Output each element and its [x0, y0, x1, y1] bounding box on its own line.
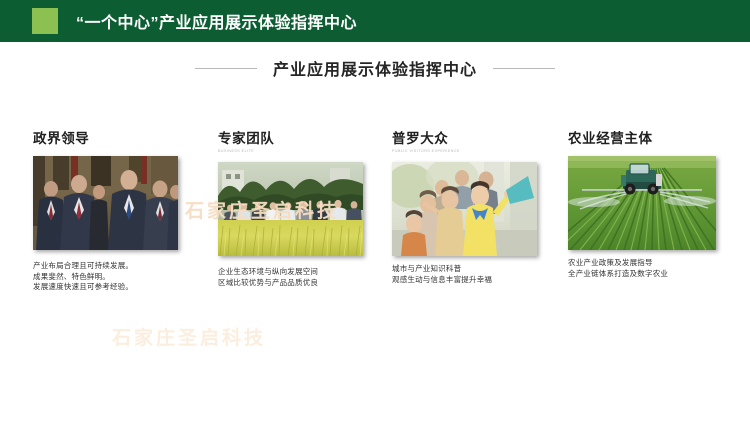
column-heading: 普罗大众 — [392, 130, 567, 148]
caption-line: 农业产业政策及发展指导 — [568, 258, 743, 269]
caption-line: 城市与产业知识科普 — [392, 264, 567, 275]
header-title: “一个中心”产业应用展示体验指挥中心 — [76, 9, 357, 33]
column-caption: 产业布局合理且可持续发展。 成果斐然、特色鲜明。 发展速度快速且可参考经验。 — [33, 261, 208, 293]
public-visitors-photo — [392, 162, 537, 256]
column-caption: 企业生态环境与纵向发展空间 区域比较优势与产品品质优良 — [218, 267, 393, 288]
page-title-row: 产业应用展示体验指挥中心 — [0, 55, 750, 81]
column-subheading: BUSINESS ELITE — [218, 148, 393, 154]
public-visitors-illustration — [392, 162, 537, 256]
rice-field-inspection-photo — [218, 162, 363, 256]
column-heading: 农业经营主体 — [568, 130, 743, 148]
column-expert-team: 专家团队 BUSINESS ELITE — [218, 130, 393, 288]
farm-spraying-illustration — [568, 156, 716, 250]
caption-line: 全产业链体系打造及数字农业 — [568, 269, 743, 280]
column-public-visitors: 普罗大众 PUBLIC VISITORS EXPERIENCE — [392, 130, 567, 285]
column-caption: 城市与产业知识科普 观感生动与信息丰富提升幸福 — [392, 264, 567, 285]
column-caption: 农业产业政策及发展指导 全产业链体系打造及数字农业 — [568, 258, 743, 279]
caption-line: 成果斐然、特色鲜明。 — [33, 272, 208, 283]
government-leaders-illustration — [33, 156, 178, 250]
government-leaders-photo — [33, 156, 178, 250]
column-heading: 专家团队 — [218, 130, 393, 148]
column-group: 政界领导 — [0, 130, 750, 360]
title-rule-right — [493, 68, 555, 69]
farm-machinery-spraying-photo — [568, 156, 716, 250]
column-heading: 政界领导 — [33, 130, 208, 148]
header-bar: “一个中心”产业应用展示体验指挥中心 — [0, 0, 750, 42]
page-title: 产业应用展示体验指挥中心 — [273, 56, 477, 80]
caption-line: 企业生态环境与纵向发展空间 — [218, 267, 393, 278]
column-government-leaders: 政界领导 — [33, 130, 208, 293]
column-subheading: PUBLIC VISITORS EXPERIENCE — [392, 148, 567, 154]
title-rule-left — [195, 68, 257, 69]
caption-line: 产业布局合理且可持续发展。 — [33, 261, 208, 272]
caption-line: 发展速度快速且可参考经验。 — [33, 282, 208, 293]
caption-line: 观感生动与信息丰富提升幸福 — [392, 275, 567, 286]
green-square-accent-icon — [32, 8, 58, 34]
caption-line: 区域比较优势与产品品质优良 — [218, 278, 393, 289]
slide-canvas: “一个中心”产业应用展示体验指挥中心 产业应用展示体验指挥中心 政界领导 — [0, 0, 750, 445]
column-farm-operators: 农业经营主体 — [568, 130, 743, 279]
rice-field-illustration — [218, 162, 363, 256]
